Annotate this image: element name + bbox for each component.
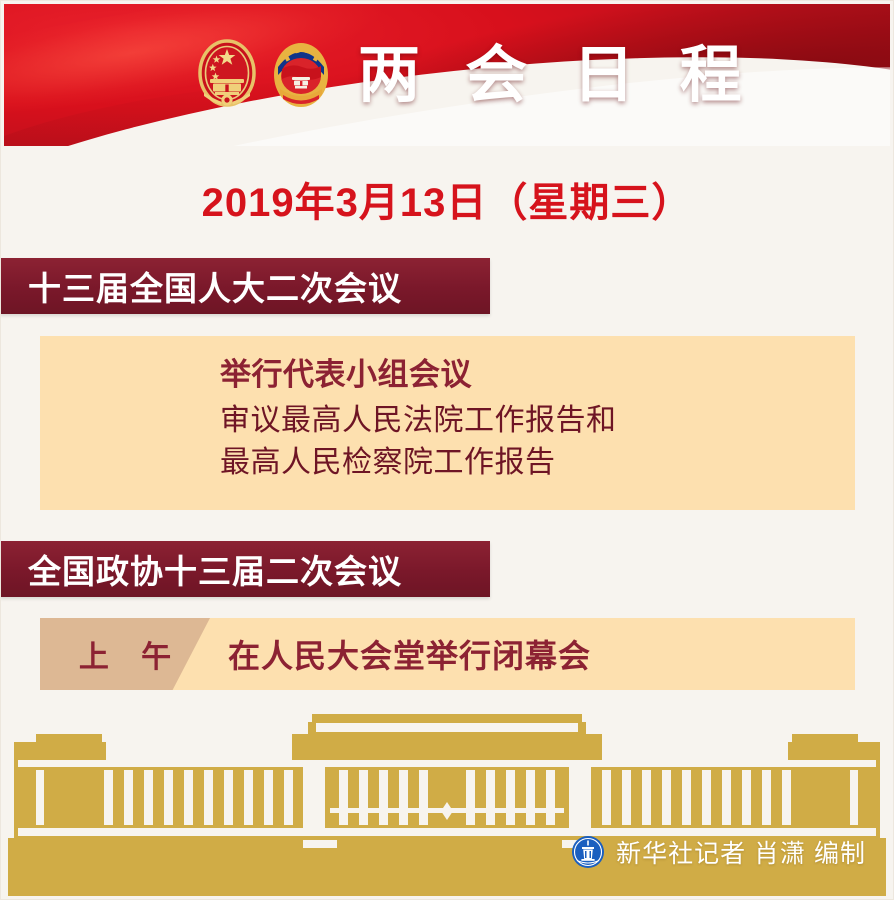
- cppcc-event-text: 在人民大会堂举行闭幕会: [228, 618, 591, 690]
- footer-credit: 新华社记者 肖潇 编制: [571, 834, 866, 870]
- cppcc-content-row: 上 午 在人民大会堂举行闭幕会: [40, 618, 855, 690]
- emblem-group: [196, 33, 332, 119]
- section-header-cppcc: 全国政协十三届二次会议: [0, 541, 490, 597]
- time-tag-label: 上 午: [67, 632, 183, 676]
- cppcc-emblem-icon: [270, 33, 332, 119]
- date-heading: 2019年3月13日（星期三）: [0, 170, 894, 228]
- npc-content-box: 举行代表小组会议 审议最高人民法院工作报告和 最高人民检察院工作报告: [40, 336, 855, 510]
- poster-canvas: 两 会 日 程 2019年3月13日（星期三） 十三届全国人大二次会议 举行代表…: [0, 0, 894, 900]
- xinhua-logo-icon: [571, 835, 605, 869]
- banner-title: 两 会 日 程: [358, 32, 756, 120]
- npc-agenda-line-2: 最高人民检察院工作报告: [220, 442, 855, 484]
- time-tag-morning: 上 午: [40, 618, 210, 690]
- npc-agenda-line-1: 审议最高人民法院工作报告和: [220, 400, 855, 442]
- credit-text: 新华社记者 肖潇 编制: [616, 834, 866, 870]
- header-banner: 两 会 日 程: [0, 0, 894, 152]
- national-emblem-icon: [196, 33, 258, 119]
- npc-agenda-heading: 举行代表小组会议: [220, 350, 855, 400]
- section-header-npc: 十三届全国人大二次会议: [0, 258, 490, 314]
